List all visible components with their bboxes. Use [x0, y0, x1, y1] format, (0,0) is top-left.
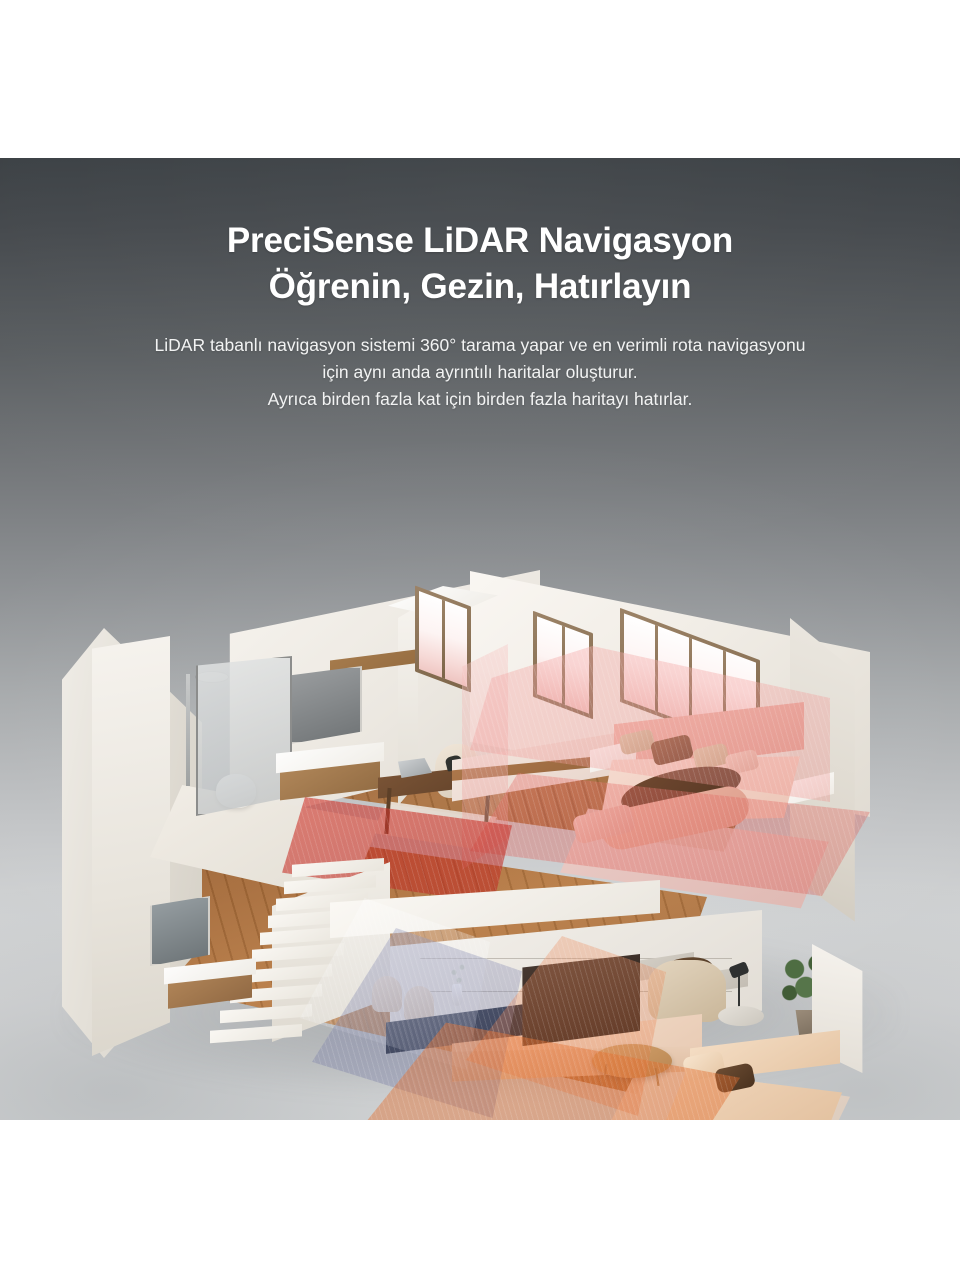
- description-line-3: Ayrıca birden fazla kat için birden fazl…: [80, 386, 880, 413]
- stair-step: [220, 1004, 312, 1024]
- window-mullion: [655, 625, 658, 712]
- house-illustration: No-Go Zones: [0, 458, 960, 1120]
- vase: [452, 984, 462, 1006]
- page-title: PreciSense LiDAR Navigasyon Öğrenin, Gez…: [0, 218, 960, 310]
- shower-glass-panel: [196, 656, 292, 816]
- promo-page: PreciSense LiDAR Navigasyon Öğrenin, Gez…: [0, 0, 960, 1280]
- window-mullion: [442, 600, 445, 679]
- stair-step: [210, 1024, 302, 1044]
- dining-chair: [372, 976, 402, 1012]
- window-mullion: [562, 626, 565, 705]
- side-table: [718, 1006, 764, 1026]
- headline-line-1: PreciSense LiDAR Navigasyon: [227, 221, 733, 260]
- baseboard-right: [812, 944, 884, 1094]
- promo-copy: PreciSense LiDAR Navigasyon Öğrenin, Gez…: [0, 158, 960, 412]
- promo-description: LiDAR tabanlı navigasyon sistemi 360° ta…: [80, 332, 880, 412]
- promo-panel: PreciSense LiDAR Navigasyon Öğrenin, Gez…: [0, 158, 960, 1120]
- stair-step: [284, 875, 376, 895]
- dining-chair: [404, 986, 434, 1022]
- description-line-1: LiDAR tabanlı navigasyon sistemi 360° ta…: [80, 332, 880, 359]
- headline-line-2: Öğrenin, Gezin, Hatırlayın: [0, 264, 960, 310]
- description-line-2: için aynı anda ayrıntılı haritalar oluşt…: [80, 359, 880, 386]
- armchair: [648, 960, 726, 1022]
- bathroom-mirror-upper: [290, 666, 362, 744]
- stair-step: [292, 858, 384, 878]
- stair-step: [252, 943, 344, 963]
- cutaway-house: No-Go Zones: [0, 458, 960, 1120]
- shower-riser: [186, 674, 190, 786]
- window-mullion: [689, 638, 692, 725]
- bathroom-mirror-lower: [150, 896, 210, 966]
